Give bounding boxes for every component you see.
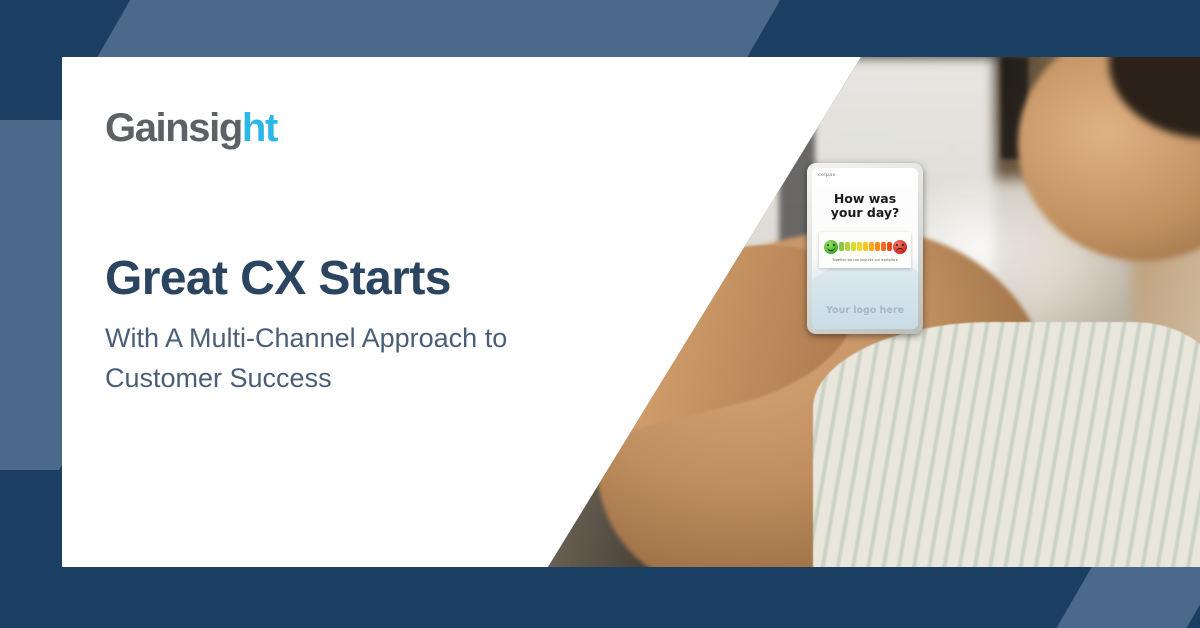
rating-step-icon-2[interactable] [845,242,850,251]
photo-door-panel [341,57,500,567]
kiosk-screen[interactable]: celpax How was your day? [812,168,918,329]
kiosk-rating-note: Together we can improve our workplace [832,258,898,262]
rating-step-icon-3[interactable] [851,242,856,251]
rating-step-icon-1[interactable] [839,242,844,251]
happy-face-icon[interactable] [824,240,838,254]
kiosk-rating-scale[interactable] [824,239,907,255]
page-subtitle-line-2: Customer Success [105,358,665,398]
sad-face-icon[interactable] [893,240,907,254]
content-card: celpax How was your day? [62,57,1200,567]
page-subtitle: With A Multi-Channel Approach to Custome… [105,318,665,398]
page-title: Great CX Starts [105,251,451,307]
kiosk-brand-label: celpax [818,172,836,177]
photo-striped-shirt [813,322,1200,567]
kiosk-question-line-2: your day? [812,206,918,220]
rating-step-icon-6[interactable] [869,242,874,251]
logo-text-primary: Gainsig [105,106,242,150]
marketing-banner: celpax How was your day? [0,0,1200,628]
photo-pointing-finger [504,220,599,316]
photo-door-edge [494,57,509,567]
sad-mouth-icon [896,248,904,252]
gainsight-logo[interactable]: Gainsight [105,108,277,148]
logo-text-accent: ht [242,106,277,150]
kiosk-rating-panel[interactable]: Together we can improve our workplace [819,232,911,268]
feedback-kiosk-device[interactable]: celpax How was your day? [807,163,923,334]
kiosk-question-text: How was your day? [812,192,918,220]
kiosk-question-line-1: How was [812,192,918,206]
kiosk-logo-placeholder: Your logo here [812,305,918,316]
rating-step-icon-4[interactable] [857,242,862,251]
rating-step-icon-7[interactable] [875,242,880,251]
rating-step-icon-5[interactable] [863,242,868,251]
kiosk-screen-wave-decoration [812,258,918,329]
rating-step-icon-8[interactable] [881,242,886,251]
rating-step-icon-9[interactable] [887,242,892,251]
happy-mouth-icon [827,247,835,251]
page-subtitle-line-1: With A Multi-Channel Approach to [105,318,665,358]
